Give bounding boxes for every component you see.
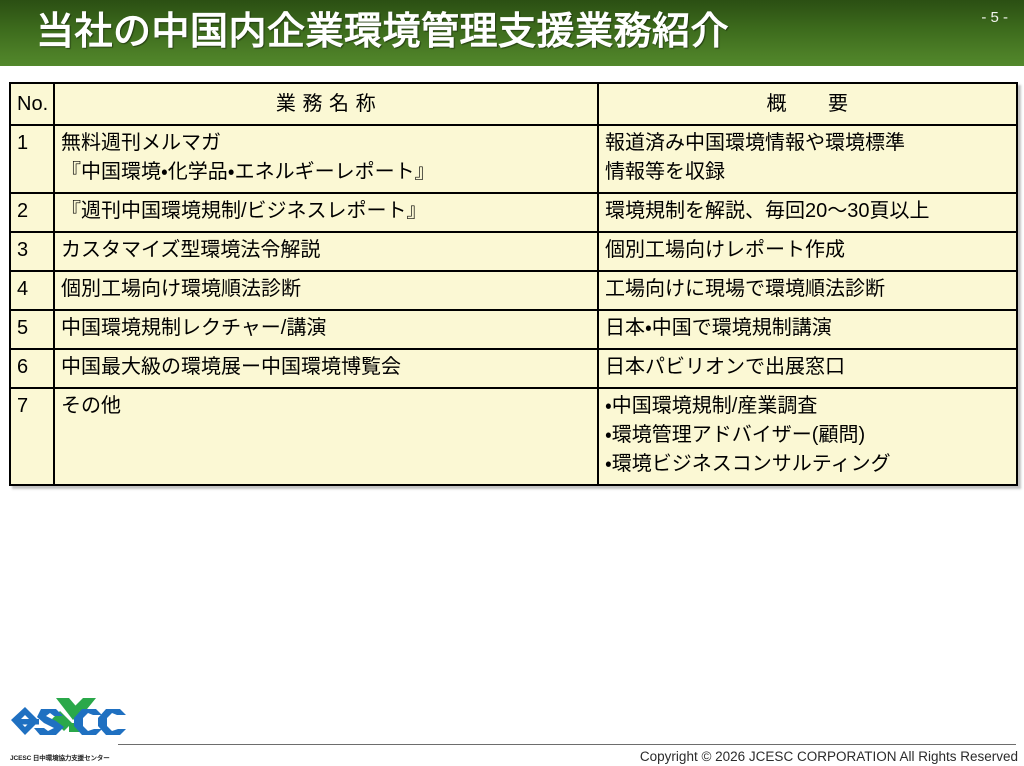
page-number: - 5 -	[981, 8, 1008, 28]
table-row: 5 中国環境規制レクチャー/講演 日本・中国で環境規制講演	[10, 310, 1017, 349]
page-title: 当社の中国内企業環境管理支援業務紹介	[36, 3, 729, 61]
cell-desc: 報道済み中国環境情報や環境標準 情報等を収録	[598, 125, 1017, 193]
column-header-no: No.	[10, 83, 54, 125]
cell-desc: 日本パビリオンで出展窓口	[598, 349, 1017, 388]
logo-tagline: JCESC 日中環境協力支援センター	[10, 752, 110, 762]
cell-no: 4	[10, 271, 54, 310]
copyright-text: Copyright © 2026 JCESC CORPORATION All R…	[640, 748, 1018, 765]
slide-header-band: 当社の中国内企業環境管理支援業務紹介 - 5 -	[0, 0, 1024, 66]
jcesc-logo-block: JCESC 日中環境協力支援センター	[8, 694, 133, 762]
cell-desc: 個別工場向けレポート作成	[598, 232, 1017, 271]
table-row: 3 カスタマイズ型環境法令解説 個別工場向けレポート作成	[10, 232, 1017, 271]
cell-no: 7	[10, 388, 54, 485]
cell-name: その他	[54, 388, 598, 485]
cell-name: 中国最大級の環境展ー中国環境博覧会	[54, 349, 598, 388]
services-table-wrap: No. 業 務 名 称 概 要 1 無料週刊メルマガ 『中国環境・化学品・エネル…	[9, 82, 1016, 486]
cell-desc: 環境規制を解説、毎回20〜30頁以上	[598, 193, 1017, 232]
cell-desc: ・中国環境規制/産業調査 ・環境管理アドバイザー(顧問) ・環境ビジネスコンサル…	[598, 388, 1017, 485]
cell-name: 無料週刊メルマガ 『中国環境・化学品・エネルギーレポート』	[54, 125, 598, 193]
cell-no: 3	[10, 232, 54, 271]
column-header-name: 業 務 名 称	[54, 83, 598, 125]
cell-desc: 日本・中国で環境規制講演	[598, 310, 1017, 349]
table-row: 2 『週刊中国環境規制/ビジネスレポート』 環境規制を解説、毎回20〜30頁以上	[10, 193, 1017, 232]
cell-desc: 工場向けに現場で環境順法診断	[598, 271, 1017, 310]
table-row: 6 中国最大級の環境展ー中国環境博覧会 日本パビリオンで出展窓口	[10, 349, 1017, 388]
table-row: 4 個別工場向け環境順法診断 工場向けに現場で環境順法診断	[10, 271, 1017, 310]
jcesc-logo-icon	[8, 694, 128, 749]
cell-no: 2	[10, 193, 54, 232]
cell-name: 『週刊中国環境規制/ビジネスレポート』	[54, 193, 598, 232]
cell-name: カスタマイズ型環境法令解説	[54, 232, 598, 271]
footer-divider	[118, 744, 1016, 745]
slide-footer: JCESC 日中環境協力支援センター Copyright © 2026 JCES…	[0, 686, 1024, 766]
cell-no: 1	[10, 125, 54, 193]
table-row: 1 無料週刊メルマガ 『中国環境・化学品・エネルギーレポート』 報道済み中国環境…	[10, 125, 1017, 193]
table-header-row: No. 業 務 名 称 概 要	[10, 83, 1017, 125]
cell-no: 6	[10, 349, 54, 388]
cell-name: 中国環境規制レクチャー/講演	[54, 310, 598, 349]
cell-name: 個別工場向け環境順法診断	[54, 271, 598, 310]
column-header-desc: 概 要	[598, 83, 1017, 125]
cell-no: 5	[10, 310, 54, 349]
services-table: No. 業 務 名 称 概 要 1 無料週刊メルマガ 『中国環境・化学品・エネル…	[9, 82, 1018, 486]
table-row: 7 その他 ・中国環境規制/産業調査 ・環境管理アドバイザー(顧問) ・環境ビジ…	[10, 388, 1017, 485]
